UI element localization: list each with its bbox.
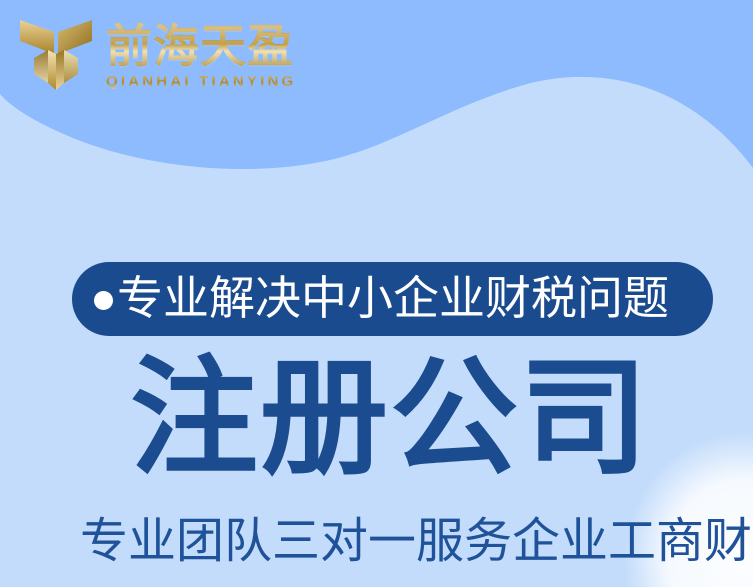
tagline-text: 专业解决中小企业财税问题: [117, 275, 669, 321]
dot-bullet-icon: [94, 291, 113, 310]
brand-name-cn: 前海天盈: [106, 22, 296, 71]
brand-wordmark: 前海天盈 QIANHAI TIANYING: [106, 10, 296, 90]
page-title: 注册公司: [130, 355, 650, 483]
logo-mark-icon: [18, 10, 96, 92]
brand-logo: 前海天盈 QIANHAI TIANYING: [18, 10, 296, 92]
sub-headline: 专业团队三对一服务企业工商财税: [80, 516, 753, 569]
tagline-pill: 专业解决中小企业财税问题: [72, 262, 713, 336]
promo-poster: 前海天盈 QIANHAI TIANYING 专业解决中小企业财税问题 注册公司 …: [0, 0, 753, 587]
brand-name-en: QIANHAI TIANYING: [106, 73, 296, 90]
